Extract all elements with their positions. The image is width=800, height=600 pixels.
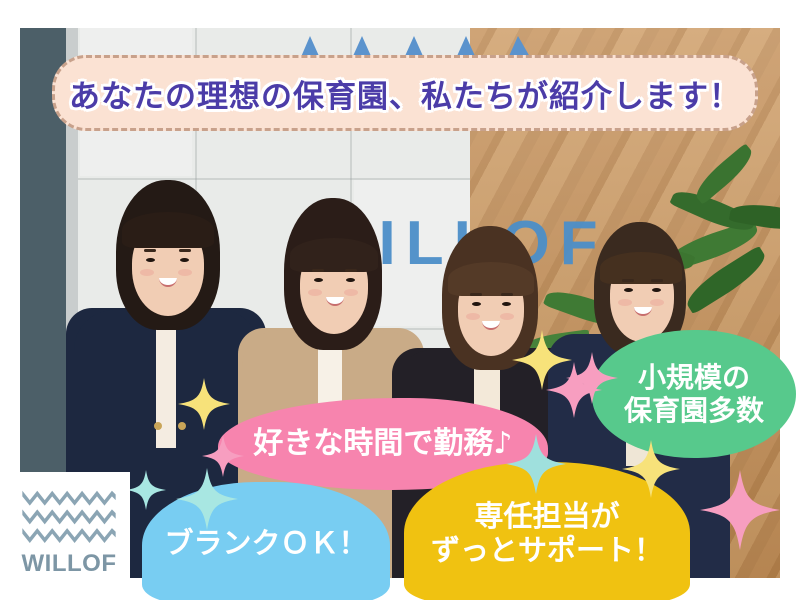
bubble-small-nurseries: 小規模の 保育園多数 <box>592 330 796 458</box>
sparkle-cyan-mid-icon <box>506 434 566 494</box>
bubble-small-nurseries-line-1: 小規模の <box>638 361 750 394</box>
bubble-blank-ok-line-1: ブランクＯＫ！ <box>164 526 367 560</box>
willof-logo: WILLOF <box>8 472 130 592</box>
willof-wordmark: WILLOF <box>22 550 117 578</box>
bubble-dedicated-support-line-2: ずっとサポート！ <box>431 533 663 567</box>
ad-creative: WILLOF <box>0 0 800 600</box>
willof-zigzag-icon <box>22 487 116 543</box>
headline-text: あなたの理想の保育園、私たちが紹介します！ <box>69 71 741 116</box>
sparkle-pink-right-icon <box>700 470 780 550</box>
sparkle-yellow-left-icon <box>178 378 230 430</box>
sparkle-cyan-blue-icon <box>176 468 238 530</box>
sparkle-pink-green-icon <box>566 352 618 404</box>
sparkle-cyan-far-icon <box>126 470 166 510</box>
bubble-small-nurseries-line-2: 保育園多数 <box>624 394 764 427</box>
bubble-work-hours-line-1: 好きな時間で勤務♪ <box>253 426 512 461</box>
headline-banner: あなたの理想の保育園、私たちが紹介します！ <box>52 55 758 131</box>
bubble-dedicated-support-line-1: 専任担当が <box>474 499 619 533</box>
sparkle-yellow-right-icon <box>622 440 680 498</box>
